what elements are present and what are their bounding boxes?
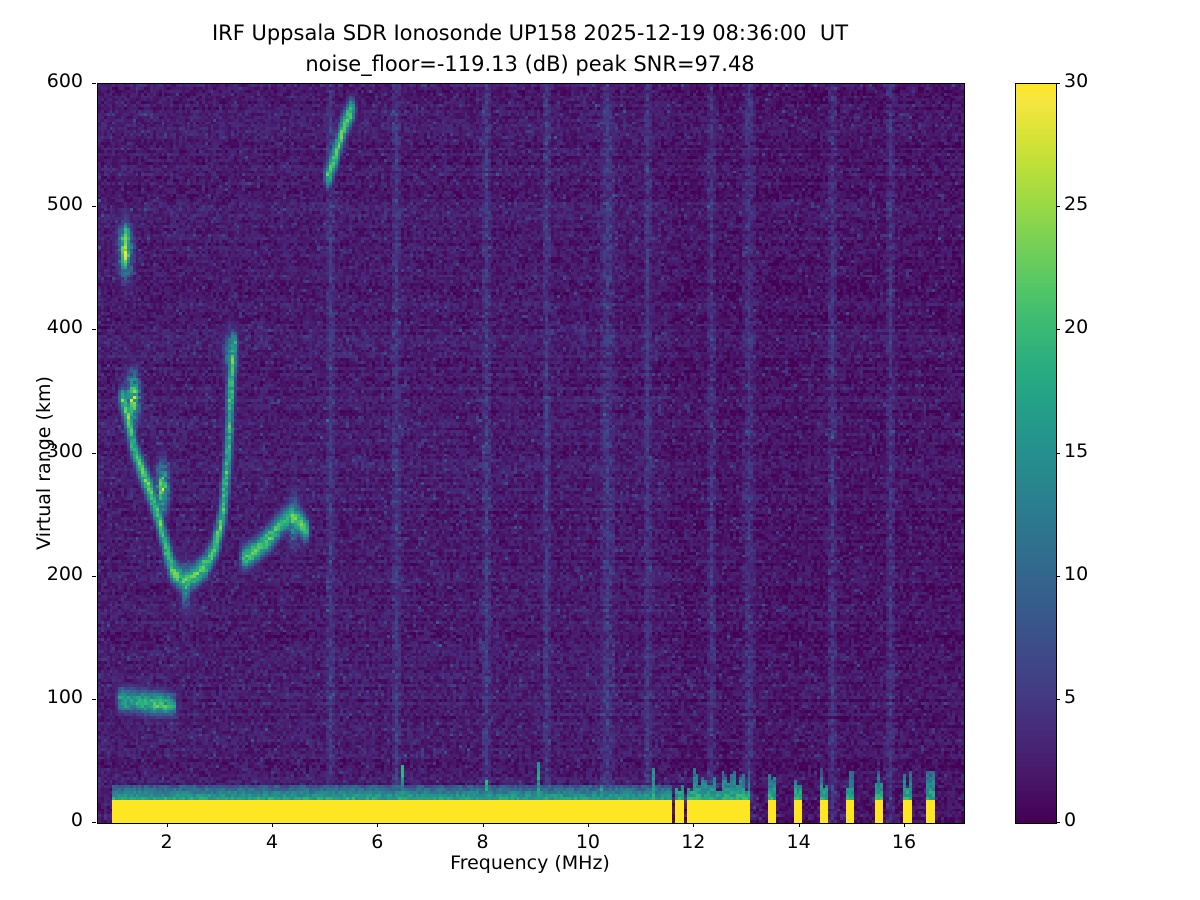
y-tick-label-0: 0 (17, 809, 83, 831)
y-tick-400 (92, 329, 96, 330)
figure-title: IRF Uppsala SDR Ionosonde UP158 2025-12-… (0, 18, 1060, 80)
colorbar-tick-label-25: 25 (1064, 193, 1124, 215)
title-line-1: IRF Uppsala SDR Ionosonde UP158 2025-12-… (0, 18, 1060, 49)
colorbar-gradient (1016, 84, 1056, 823)
colorbar-tick-label-5: 5 (1064, 686, 1124, 708)
x-axis-label: Frequency (MHz) (97, 852, 963, 874)
x-tick-4 (272, 823, 273, 827)
y-tick-label-500: 500 (17, 193, 83, 215)
x-tick-10 (588, 823, 589, 827)
x-tick-16 (904, 823, 905, 827)
y-tick-500 (92, 206, 96, 207)
x-tick-2 (167, 823, 168, 827)
x-tick-label-2: 2 (132, 831, 202, 853)
x-tick-label-10: 10 (553, 831, 623, 853)
y-tick-0 (92, 822, 96, 823)
x-tick-label-4: 4 (237, 831, 307, 853)
y-tick-300 (92, 453, 96, 454)
y-axis-label: Virtual range (km) (33, 333, 55, 593)
y-tick-600 (92, 83, 96, 84)
colorbar-tick-label-30: 30 (1064, 70, 1124, 92)
x-tick-6 (377, 823, 378, 827)
colorbar-tick-label-0: 0 (1064, 809, 1124, 831)
x-tick-14 (799, 823, 800, 827)
ionogram-heatmap (98, 84, 964, 823)
y-tick-200 (92, 576, 96, 577)
y-tick-label-100: 100 (17, 686, 83, 708)
y-tick-label-600: 600 (17, 70, 83, 92)
colorbar-tick-label-20: 20 (1064, 316, 1124, 338)
title-line-2: noise_floor=-119.13 (dB) peak SNR=97.48 (0, 49, 1060, 80)
x-tick-8 (483, 823, 484, 827)
x-tick-label-8: 8 (448, 831, 518, 853)
y-tick-100 (92, 699, 96, 700)
plot-area (97, 83, 965, 824)
colorbar (1015, 83, 1057, 824)
ionogram-figure: IRF Uppsala SDR Ionosonde UP158 2025-12-… (0, 0, 1200, 900)
colorbar-tick-label-10: 10 (1064, 563, 1124, 585)
colorbar-tick-label-15: 15 (1064, 440, 1124, 462)
x-tick-label-16: 16 (869, 831, 939, 853)
x-tick-label-6: 6 (342, 831, 412, 853)
x-tick-12 (693, 823, 694, 827)
x-tick-label-12: 12 (658, 831, 728, 853)
x-tick-label-14: 14 (764, 831, 834, 853)
